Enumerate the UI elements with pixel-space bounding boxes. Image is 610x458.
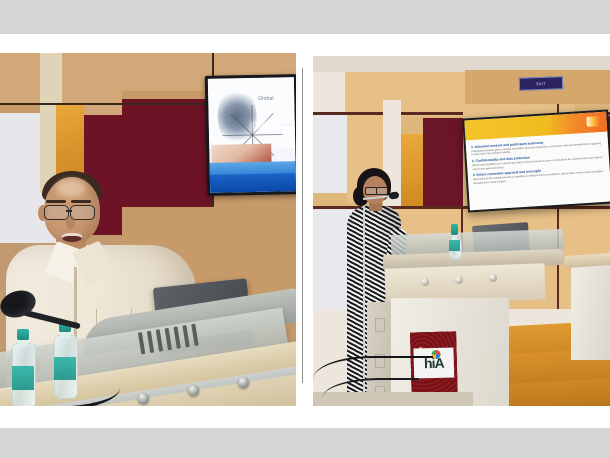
- wall-panel: [313, 115, 347, 193]
- photo-right[interactable]: EXIT Ethical Considerations 1. Informed …: [313, 56, 610, 406]
- podium-knob: [489, 274, 497, 282]
- slide-body: 1. Informed consent and participant auto…: [466, 131, 610, 210]
- podium-stud: [188, 385, 199, 396]
- eyeglasses-lens-right: [376, 187, 388, 195]
- presenter-eyebrow: [71, 200, 91, 203]
- right-display-screen: Ethical Considerations 1. Informed conse…: [462, 110, 610, 213]
- bottle-cap: [17, 329, 29, 340]
- left-slide-content: Global: [208, 77, 296, 193]
- microphone-cable: [0, 373, 120, 406]
- wall-panel: [122, 53, 214, 91]
- presenter-mouth: [62, 233, 82, 242]
- podium-knob: [455, 276, 463, 284]
- wall-panel: [122, 91, 214, 99]
- vertical-divider: [302, 68, 303, 383]
- bottle-label: [449, 240, 460, 250]
- wall-panel: [313, 72, 345, 112]
- podium-panel-button[interactable]: [375, 318, 385, 332]
- wall-gold-panel: [401, 134, 423, 208]
- photo-left[interactable]: Global: [0, 53, 296, 406]
- wall-maroon-panel: [122, 99, 214, 207]
- slide-header-logo: [587, 116, 602, 127]
- podium-stud: [238, 377, 249, 388]
- water-bottle: [449, 224, 460, 258]
- secondary-podium-body: [571, 264, 610, 360]
- bottle-cap: [451, 224, 457, 235]
- exit-sign: EXIT: [519, 76, 563, 91]
- slide-canvas: Global: [0, 0, 610, 458]
- presenter-eyebrow: [46, 200, 66, 203]
- eyeglasses-bridge: [66, 210, 72, 212]
- wall-panel: [345, 72, 465, 116]
- exit-sign-label: EXIT: [536, 81, 545, 85]
- podium-stud: [138, 393, 149, 404]
- wall-maroon-panel: [423, 118, 463, 216]
- left-slide-title: Global: [258, 96, 274, 102]
- right-slide-content: Ethical Considerations 1. Informed conse…: [464, 112, 610, 211]
- left-display-screen: Global: [205, 74, 296, 196]
- wall-pillar: [40, 53, 56, 193]
- podium-knob: [421, 278, 429, 286]
- forehead-highlight: [56, 179, 86, 197]
- presenter-nose: [66, 215, 75, 229]
- slide-bottom-band: [210, 173, 296, 193]
